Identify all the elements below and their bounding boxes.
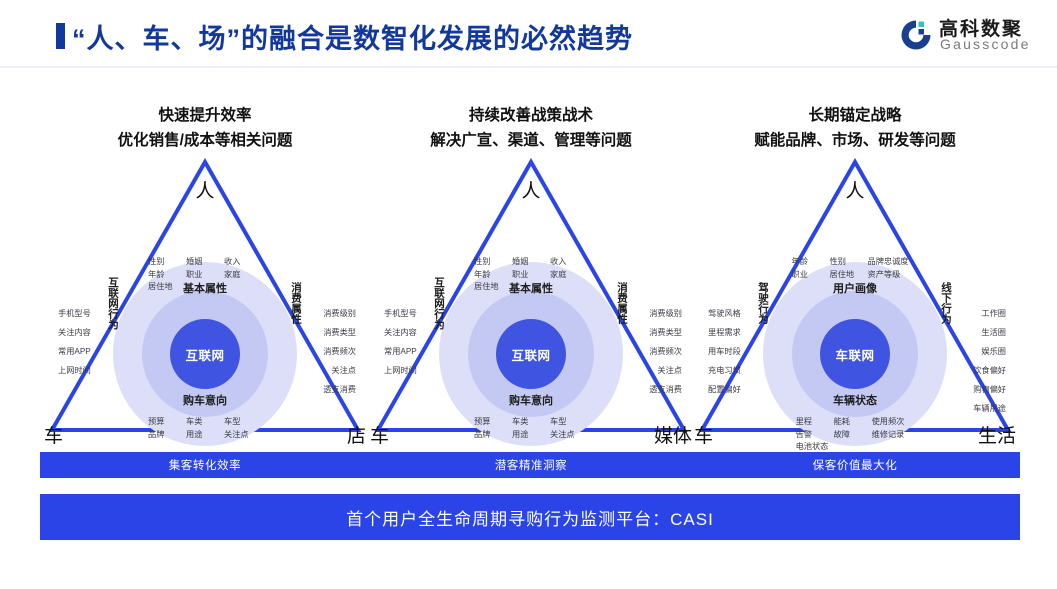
platform-banner: 首个用户全生命周期寻购行为监测平台：CASI: [40, 494, 1020, 540]
tag-row: 里程能耗使用频次: [796, 416, 915, 429]
tag-item: 性别: [474, 256, 502, 269]
tag-item: 驾驶风格: [708, 304, 741, 323]
caption-line-2: 优化销售/成本等相关问题: [40, 128, 370, 153]
page-header: “人、车、场”的融合是数智化发展的必然趋势 高科数聚 Gausscode: [0, 0, 1057, 66]
tag-item: 用途: [512, 429, 540, 442]
tag-grid-bottom: 里程能耗使用频次告警故障维修记录电池状态: [796, 416, 915, 454]
tag-item: 居住地: [830, 269, 858, 282]
corner-label-left: 车: [370, 421, 389, 448]
tag-row: 预算车类车型: [474, 416, 588, 429]
tag-item: 关注点: [649, 361, 682, 380]
tag-row: 预算车类车型: [148, 416, 262, 429]
tag-item: 收入: [550, 256, 578, 269]
logo-english-name: Gausscode: [940, 36, 1031, 52]
tag-item: 里程需求: [708, 323, 741, 342]
tag-item: 关注点: [224, 429, 252, 442]
header-divider: [0, 66, 1057, 68]
tag-grid-bottom: 预算车类车型品牌用途关注点: [474, 416, 588, 441]
tag-row: 年龄职业家庭: [148, 269, 262, 282]
tag-item: 透支消费: [649, 380, 682, 399]
tag-item: 车型: [224, 416, 252, 429]
tag-item: 消费类型: [323, 323, 356, 342]
tag-grid-top: 年龄性别品牌忠诚度职业居住地资产等级: [792, 256, 919, 281]
tag-item: 车类: [512, 416, 540, 429]
caption-line-2: 赋能品牌、市场、研发等问题: [690, 128, 1020, 153]
outcome-bar-3: 保客价值最大化: [690, 452, 1020, 478]
tag-item: 上网时间: [58, 361, 91, 380]
tag-item: 性别: [148, 256, 176, 269]
column-caption-2: 持续改善战策战术 解决广宣、渠道、管理等问题: [366, 103, 696, 153]
tag-item: 娱乐圈: [973, 342, 1006, 361]
tag-item: 年龄: [148, 269, 176, 282]
ring-label-left: 互联网行为: [432, 277, 447, 330]
caption-line-2: 解决广宣、渠道、管理等问题: [366, 128, 696, 153]
tag-list-left: 手机型号关注内容常用APP上网时间: [58, 304, 91, 380]
tag-row: 性别婚姻收入: [148, 256, 262, 269]
caption-line-1: 长期锚定战略: [690, 103, 1020, 128]
tag-item: 性别: [830, 256, 858, 269]
tag-item: 婚姻: [186, 256, 214, 269]
corner-label-right: 店: [347, 421, 366, 448]
tag-item: 饮食偏好: [973, 361, 1006, 380]
ring-label-bottom: 车辆状态: [833, 392, 877, 408]
corner-label-right: 媒体: [654, 421, 692, 448]
tag-item: 消费频次: [649, 342, 682, 361]
tag-item: 年龄: [474, 269, 502, 282]
tag-item: 维修记录: [872, 429, 905, 442]
tag-item: 预算: [148, 416, 176, 429]
tag-item: 常用APP: [58, 342, 91, 361]
tag-list-left: 驾驶风格里程需求用车时段充电习惯配置偏好: [708, 304, 741, 399]
tag-list-right: 消费级别消费类型消费频次关注点透支消费: [649, 304, 682, 399]
tag-item: 消费级别: [649, 304, 682, 323]
ring-label-top: 用户画像: [833, 280, 877, 296]
tag-item: 上网时间: [384, 361, 417, 380]
tag-row: 年龄职业家庭: [474, 269, 588, 282]
tag-row: 品牌用途关注点: [148, 429, 262, 442]
tag-item: 常用APP: [384, 342, 417, 361]
tag-row: 年龄性别品牌忠诚度: [792, 256, 919, 269]
title-accent-bar: [56, 23, 65, 49]
tag-item: 品牌忠诚度: [868, 256, 909, 269]
corner-label-apex: 人: [195, 176, 214, 203]
column-caption-3: 长期锚定战略 赋能品牌、市场、研发等问题: [690, 103, 1020, 153]
corner-label-left: 车: [44, 421, 63, 448]
tag-item: 工作圈: [973, 304, 1006, 323]
tag-grid-top: 性别婚姻收入年龄职业家庭居住地: [474, 256, 588, 294]
tag-item: 关注内容: [58, 323, 91, 342]
ring-label-left: 互联网行为: [106, 277, 121, 330]
tag-row: 职业居住地资产等级: [792, 269, 919, 282]
tag-item: 家庭: [224, 269, 252, 282]
brand-logo: 高科数聚 Gausscode: [899, 12, 1039, 58]
venn-core-circle: 互联网: [170, 319, 240, 389]
tag-item: 故障: [834, 429, 862, 442]
tag-list-right: 工作圈生活圈娱乐圈饮食偏好购物偏好车辆用途: [973, 304, 1006, 418]
caption-line-1: 快速提升效率: [40, 103, 370, 128]
tag-item: 职业: [792, 269, 820, 282]
column-caption-1: 快速提升效率 优化销售/成本等相关问题: [40, 103, 370, 153]
corner-label-right: 生活: [978, 421, 1016, 448]
tag-item: 里程: [796, 416, 824, 429]
tag-item: 家庭: [550, 269, 578, 282]
tag-item: 关注内容: [384, 323, 417, 342]
tag-grid-top: 性别婚姻收入年龄职业家庭居住地: [148, 256, 262, 294]
tag-item: 配置偏好: [708, 380, 741, 399]
ring-label-bottom: 购车意向: [183, 392, 227, 408]
tag-item: 消费类型: [649, 323, 682, 342]
caption-line-1: 持续改善战策战术: [366, 103, 696, 128]
tag-item: 职业: [512, 269, 540, 282]
tag-item: 居住地: [148, 281, 176, 294]
tag-item: 职业: [186, 269, 214, 282]
ring-label-right: 线下行为: [939, 282, 954, 324]
venn-core-circle: 车联网: [820, 319, 890, 389]
tag-row: 告警故障维修记录: [796, 429, 915, 442]
triangle-panel-2: 人车媒体互联网 上网行为互联网基本属性购车意向互联网行为消费属性性别婚姻收入年龄…: [366, 158, 696, 448]
tag-item: 告警: [796, 429, 824, 442]
tag-item: 使用频次: [872, 416, 905, 429]
tag-item: 用车时段: [708, 342, 741, 361]
corner-label-apex: 人: [521, 176, 540, 203]
ring-label-right: 消费属性: [615, 282, 630, 324]
tag-item: 居住地: [474, 281, 502, 294]
outcome-bar-2: 潜客精准洞察: [366, 452, 696, 478]
tag-item: 预算: [474, 416, 502, 429]
ring-label-bottom: 购车意向: [509, 392, 553, 408]
tag-list-right: 消费级别消费类型消费频次关注点透支消费: [323, 304, 356, 399]
tag-row: 居住地: [148, 281, 262, 294]
tag-item: 年龄: [792, 256, 820, 269]
tag-item: 车型: [550, 416, 578, 429]
tag-item: 车类: [186, 416, 214, 429]
tag-item: 品牌: [474, 429, 502, 442]
tag-item: 充电习惯: [708, 361, 741, 380]
tag-list-left: 手机型号关注内容常用APP上网时间: [384, 304, 417, 380]
tag-item: 购物偏好: [973, 380, 1006, 399]
ring-label-right: 消费属性: [289, 282, 304, 324]
tag-item: 能耗: [834, 416, 862, 429]
tag-row: 品牌用途关注点: [474, 429, 588, 442]
tag-row: 居住地: [474, 281, 588, 294]
tag-item: 透支消费: [323, 380, 356, 399]
ring-label-left: 驾驶行为: [756, 282, 771, 324]
tag-item: 关注点: [323, 361, 356, 380]
tag-item: 品牌: [148, 429, 176, 442]
tag-item: 婚姻: [512, 256, 540, 269]
triangle-panel-3: 人车生活互联网 上网行为车联网用户画像车辆状态驾驶行为线下行为年龄性别品牌忠诚度…: [690, 158, 1020, 448]
tag-item: 资产等级: [868, 269, 901, 282]
corner-label-left: 车: [694, 421, 713, 448]
tag-row: 性别婚姻收入: [474, 256, 588, 269]
tag-item: 用途: [186, 429, 214, 442]
tag-item: 消费级别: [323, 304, 356, 323]
tag-item: 生活圈: [973, 323, 1006, 342]
tag-item: 手机型号: [58, 304, 91, 323]
tag-item: 关注点: [550, 429, 578, 442]
tag-grid-bottom: 预算车类车型品牌用途关注点: [148, 416, 262, 441]
tag-item: 收入: [224, 256, 252, 269]
venn-core-circle: 互联网: [496, 319, 566, 389]
page-title: “人、车、场”的融合是数智化发展的必然趋势: [72, 17, 633, 56]
tag-item: 消费频次: [323, 342, 356, 361]
tag-item: 车辆用途: [973, 399, 1006, 418]
corner-label-apex: 人: [845, 176, 864, 203]
tag-item: 手机型号: [384, 304, 417, 323]
triangle-panel-1: 人车店互联网 上网行为互联网基本属性购车意向互联网行为消费属性性别婚姻收入年龄职…: [40, 158, 370, 448]
gausscode-logo-icon: [899, 18, 933, 52]
outcome-bar-1: 集客转化效率: [40, 452, 370, 478]
